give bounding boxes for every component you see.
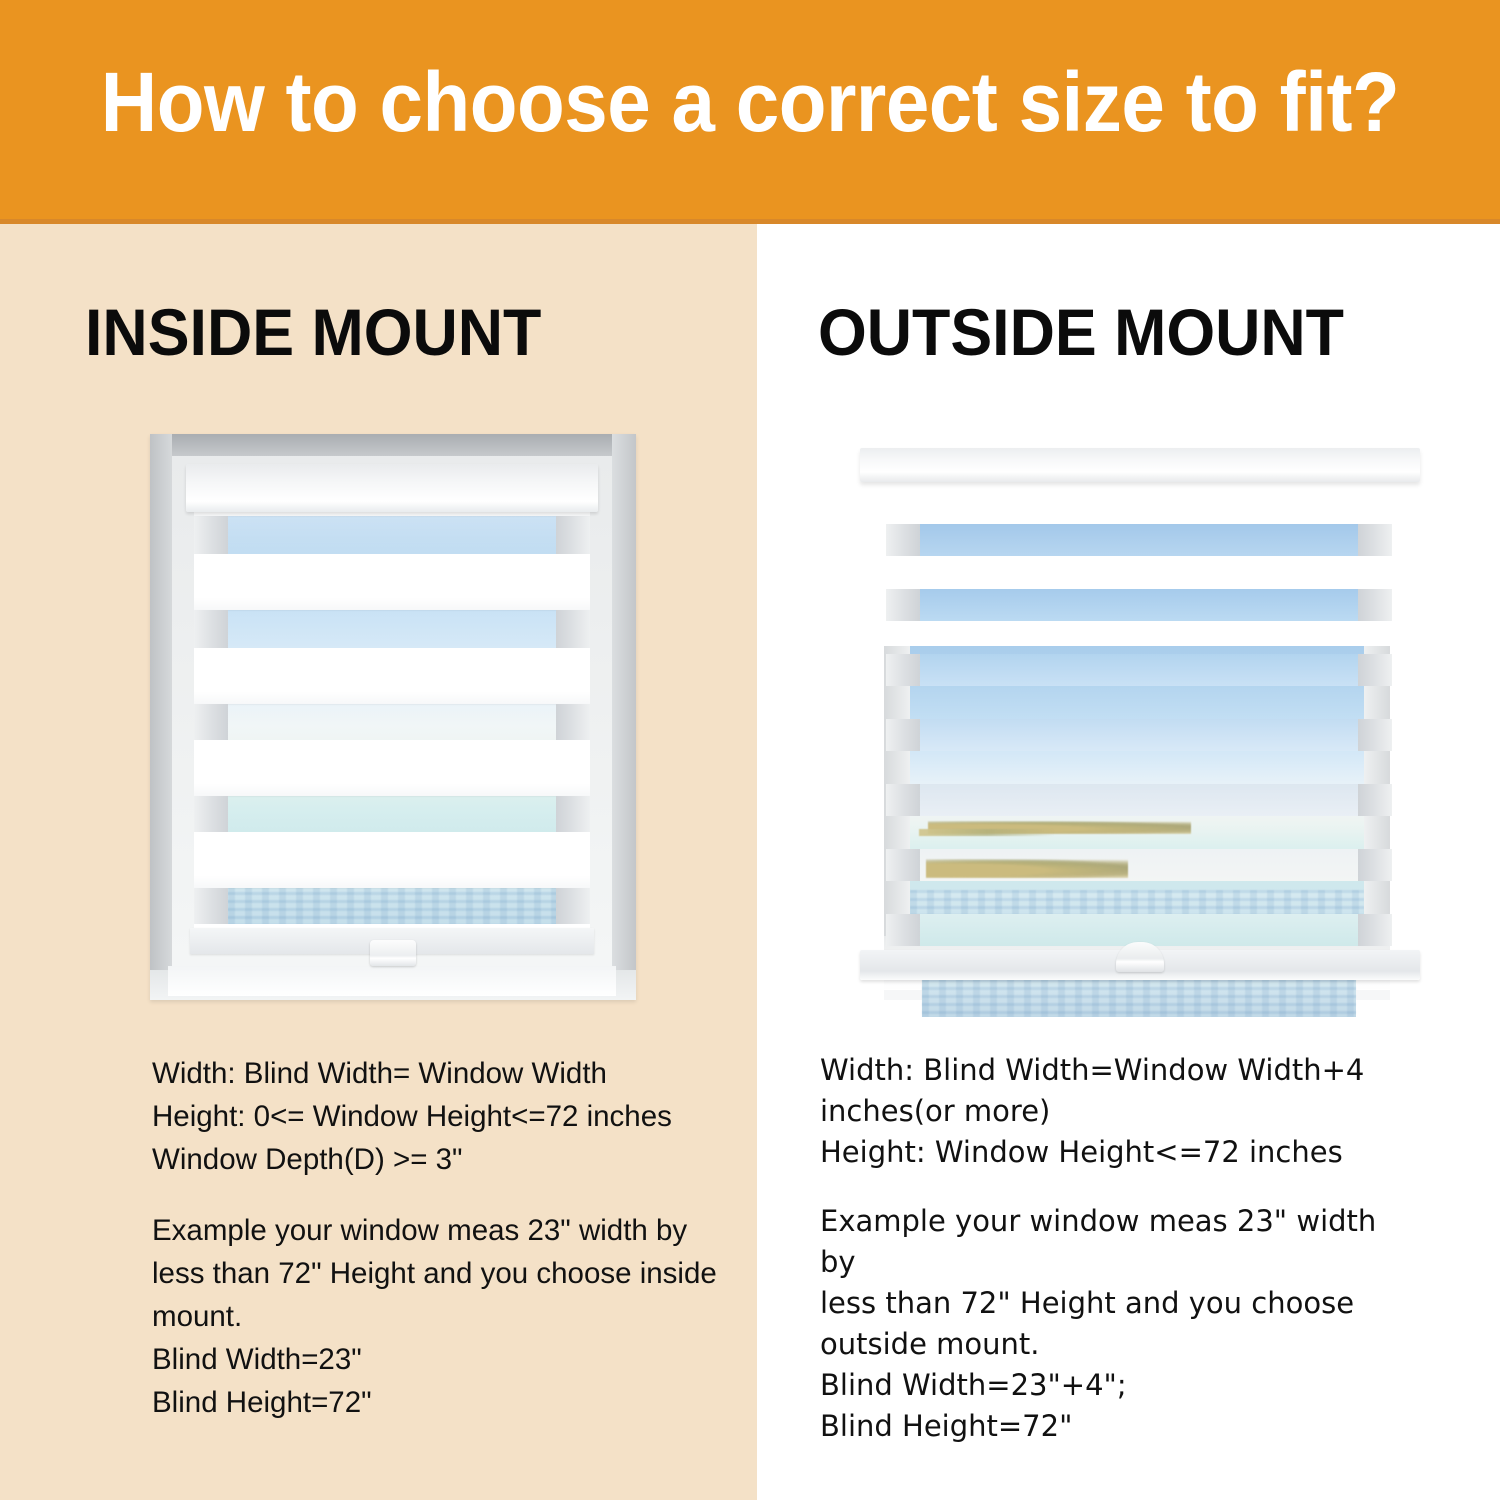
- view-stripe: [920, 654, 1358, 686]
- blind-headrail: [186, 464, 598, 512]
- blind-gap-row: [860, 849, 1420, 881]
- blind-gap-left-cap: [886, 914, 920, 946]
- blind-gap-row: [860, 979, 1420, 1017]
- blind-gap-left-cap: [194, 704, 228, 740]
- infographic-page: How to choose a correct size to fit? INS…: [0, 0, 1500, 1500]
- view-stripe: [920, 784, 1358, 816]
- blind-gap-right-cap: [556, 704, 590, 740]
- blind-gap-left-cap: [194, 610, 228, 648]
- inside-mount-text: Width: Blind Width= Window Width Height:…: [152, 1052, 732, 1424]
- blind-gap-right-cap: [556, 888, 590, 924]
- spec-line: Width: Blind Width=Window Width+4: [820, 1050, 1410, 1091]
- spec-line: Height: 0<= Window Height<=72 inches: [152, 1095, 732, 1138]
- blind-gap-left-cap: [886, 654, 920, 686]
- window-opening: [194, 472, 590, 934]
- blind-gap-left-cap: [194, 516, 228, 554]
- blind-gap-left-cap: [194, 888, 228, 924]
- spec-line: Height: Window Height<=72 inches: [820, 1132, 1410, 1173]
- blind-slat: [194, 740, 590, 796]
- window-sill: [168, 966, 616, 996]
- example-line: Blind Width=23"+4";: [820, 1365, 1410, 1406]
- example-line: outside mount.: [820, 1324, 1410, 1365]
- view-stripe: [920, 524, 1358, 556]
- inside-mount-window-diagram: [150, 434, 636, 1000]
- example-line: less than 72" Height and you choose insi…: [152, 1252, 732, 1295]
- blind-gap-right-cap: [556, 610, 590, 648]
- blind-valance: [860, 448, 1420, 482]
- page-title: How to choose a correct size to fit?: [53, 52, 1448, 152]
- blind-gap-right-cap: [1358, 719, 1392, 751]
- spec-line: Width: Blind Width= Window Width: [152, 1052, 732, 1095]
- blind-slat: [194, 832, 590, 888]
- view-stripe: [920, 719, 1358, 751]
- example-line: less than 72" Height and you choose: [820, 1283, 1410, 1324]
- window-frame-left-bevel: [150, 434, 172, 1000]
- view-stripe: [920, 589, 1358, 621]
- window-frame-top-bevel: [150, 434, 636, 456]
- example-line: Blind Height=72": [820, 1406, 1410, 1447]
- blind-gap-left-cap: [886, 589, 920, 621]
- spec-line: Window Depth(D) >= 3": [152, 1138, 732, 1181]
- blind-gap-right-cap: [1358, 654, 1392, 686]
- blind-gap-left-cap: [886, 719, 920, 751]
- blind-handle[interactable]: [370, 940, 416, 966]
- blind-gap-right-cap: [1358, 849, 1392, 881]
- blind-gap-left-cap: [194, 796, 228, 832]
- blind-gap-right-cap: [1358, 589, 1392, 621]
- blind-gap-right-cap: [556, 796, 590, 832]
- text-spacer: [820, 1173, 1410, 1201]
- example-line: Example your window meas 23" width by: [152, 1209, 732, 1252]
- blind-gap-row: [860, 654, 1420, 686]
- blind-gap-row: [860, 719, 1420, 751]
- blind-gap-right-cap: [1358, 784, 1392, 816]
- inside-mount-heading: INSIDE MOUNT: [85, 294, 541, 370]
- blind-gap-right-cap: [1358, 524, 1392, 556]
- blind-gap-left-cap: [886, 524, 920, 556]
- outside-mount-text: Width: Blind Width=Window Width+4 inches…: [820, 1050, 1410, 1447]
- blind-slat: [194, 648, 590, 704]
- blind-gap-row: [860, 784, 1420, 816]
- window-frame-right-bevel: [612, 434, 636, 1000]
- example-line: Example your window meas 23" width by: [820, 1201, 1410, 1283]
- outside-mount-window-diagram: [860, 434, 1420, 1000]
- blind-gap-row: [860, 524, 1420, 556]
- spec-line: inches(or more): [820, 1091, 1410, 1132]
- island-shape: [926, 859, 1128, 878]
- blind-gap-left-cap: [886, 849, 920, 881]
- sea-texture: [922, 979, 1356, 1017]
- example-line: Blind Height=72": [152, 1381, 732, 1424]
- blind-gap-right-cap: [1358, 914, 1392, 946]
- blind-slat: [194, 554, 590, 610]
- island-shore-shape: [919, 829, 1055, 837]
- blind-gap-row: [860, 589, 1420, 621]
- blind-gap-left-cap: [886, 784, 920, 816]
- example-line: Blind Width=23": [152, 1338, 732, 1381]
- text-spacer: [152, 1181, 732, 1209]
- example-line: mount.: [152, 1295, 732, 1338]
- outside-mount-heading: OUTSIDE MOUNT: [818, 294, 1344, 370]
- blind-gap-right-cap: [556, 516, 590, 554]
